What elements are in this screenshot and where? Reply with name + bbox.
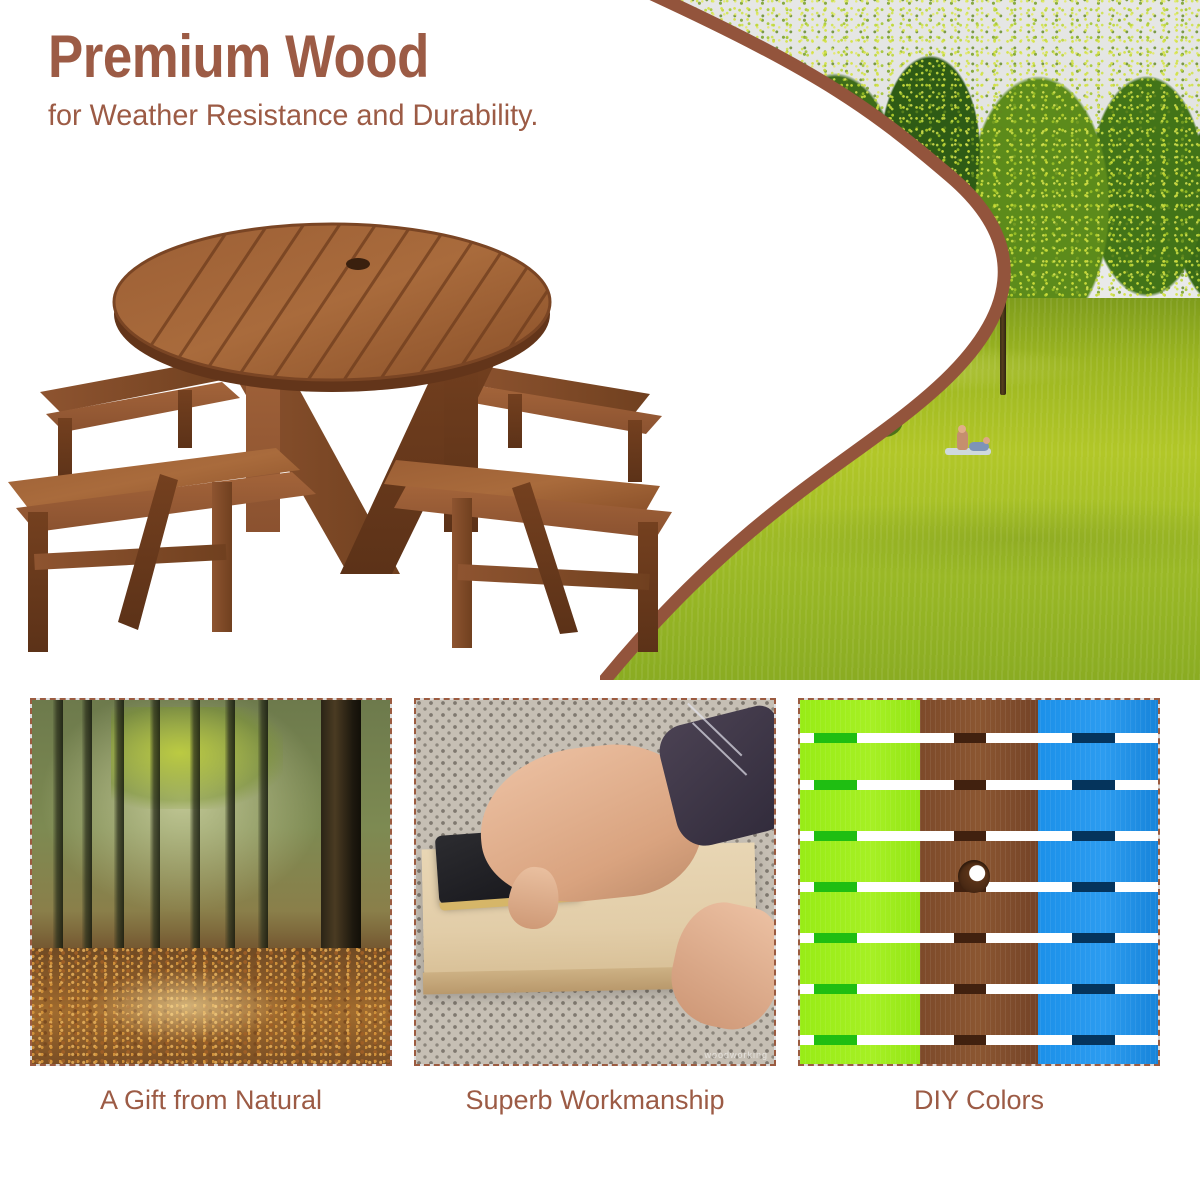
panel-caption-workmanship: Superb Workmanship [414, 1085, 776, 1116]
umbrella-hole [346, 258, 370, 270]
slat-support [954, 984, 986, 994]
slat-support [814, 831, 857, 841]
bench-leg [28, 512, 48, 652]
tree-trunk [258, 698, 268, 969]
tree-trunk [82, 698, 92, 969]
panel-caption-diy: DIY Colors [798, 1085, 1160, 1116]
tree-trunk [867, 312, 874, 430]
panel-forest[interactable] [30, 698, 392, 1066]
slat-support [1072, 831, 1115, 841]
tree-trunk [758, 326, 766, 464]
slat-support [814, 1035, 857, 1045]
slat-support [814, 984, 857, 994]
picnic-table-product-image [0, 182, 700, 652]
panel-caption-forest: A Gift from Natural [30, 1085, 392, 1116]
slat-support [954, 780, 986, 790]
slat-support [1072, 984, 1115, 994]
slat-support [954, 733, 986, 743]
tree-trunk [1000, 298, 1006, 395]
panel-diy-colors[interactable] [798, 698, 1160, 1066]
panel-workmanship[interactable]: woodworking [414, 698, 776, 1066]
tabletop [60, 182, 696, 482]
hero-section: Premium Wood for Weather Resistance and … [0, 0, 1200, 680]
slat-support [954, 933, 986, 943]
tree-trunk [225, 698, 235, 969]
slat-support [1072, 780, 1115, 790]
slat-support [1072, 1035, 1115, 1045]
tree-trunk [150, 698, 160, 969]
watermark: woodworking [704, 1050, 768, 1060]
slat-support [1072, 933, 1115, 943]
people-on-lawn [945, 423, 1015, 455]
bench-front-right [384, 460, 672, 652]
forest-photo [32, 700, 390, 1064]
tree-trunk [114, 698, 124, 969]
tree-trunk [190, 698, 200, 969]
slat-support [954, 1035, 986, 1045]
slat-support [814, 780, 857, 790]
bench-front-left [8, 448, 316, 652]
page-subtitle: for Weather Resistance and Durability. [48, 98, 624, 134]
slat-support [814, 882, 857, 892]
sunlight-patch [89, 969, 282, 1042]
person-head [983, 437, 990, 444]
person-sitting [957, 430, 968, 450]
slat-support [814, 933, 857, 943]
slat-support [954, 831, 986, 841]
bench-rear-right [458, 364, 662, 482]
tree-trunk [53, 698, 63, 969]
umbrella-hole [958, 860, 990, 893]
slat-support [814, 733, 857, 743]
slat-support [1072, 733, 1115, 743]
page-title: Premium Wood [48, 26, 576, 88]
diy-colors-photo [800, 700, 1158, 1064]
feature-panels: woodworking [0, 690, 1200, 1200]
headline-block: Premium Wood for Weather Resistance and … [48, 26, 648, 134]
shrub [855, 395, 903, 437]
slat-support [1072, 882, 1115, 892]
sanding-photo: woodworking [416, 700, 774, 1064]
bench-stretcher [34, 544, 227, 570]
shrub [745, 423, 812, 478]
